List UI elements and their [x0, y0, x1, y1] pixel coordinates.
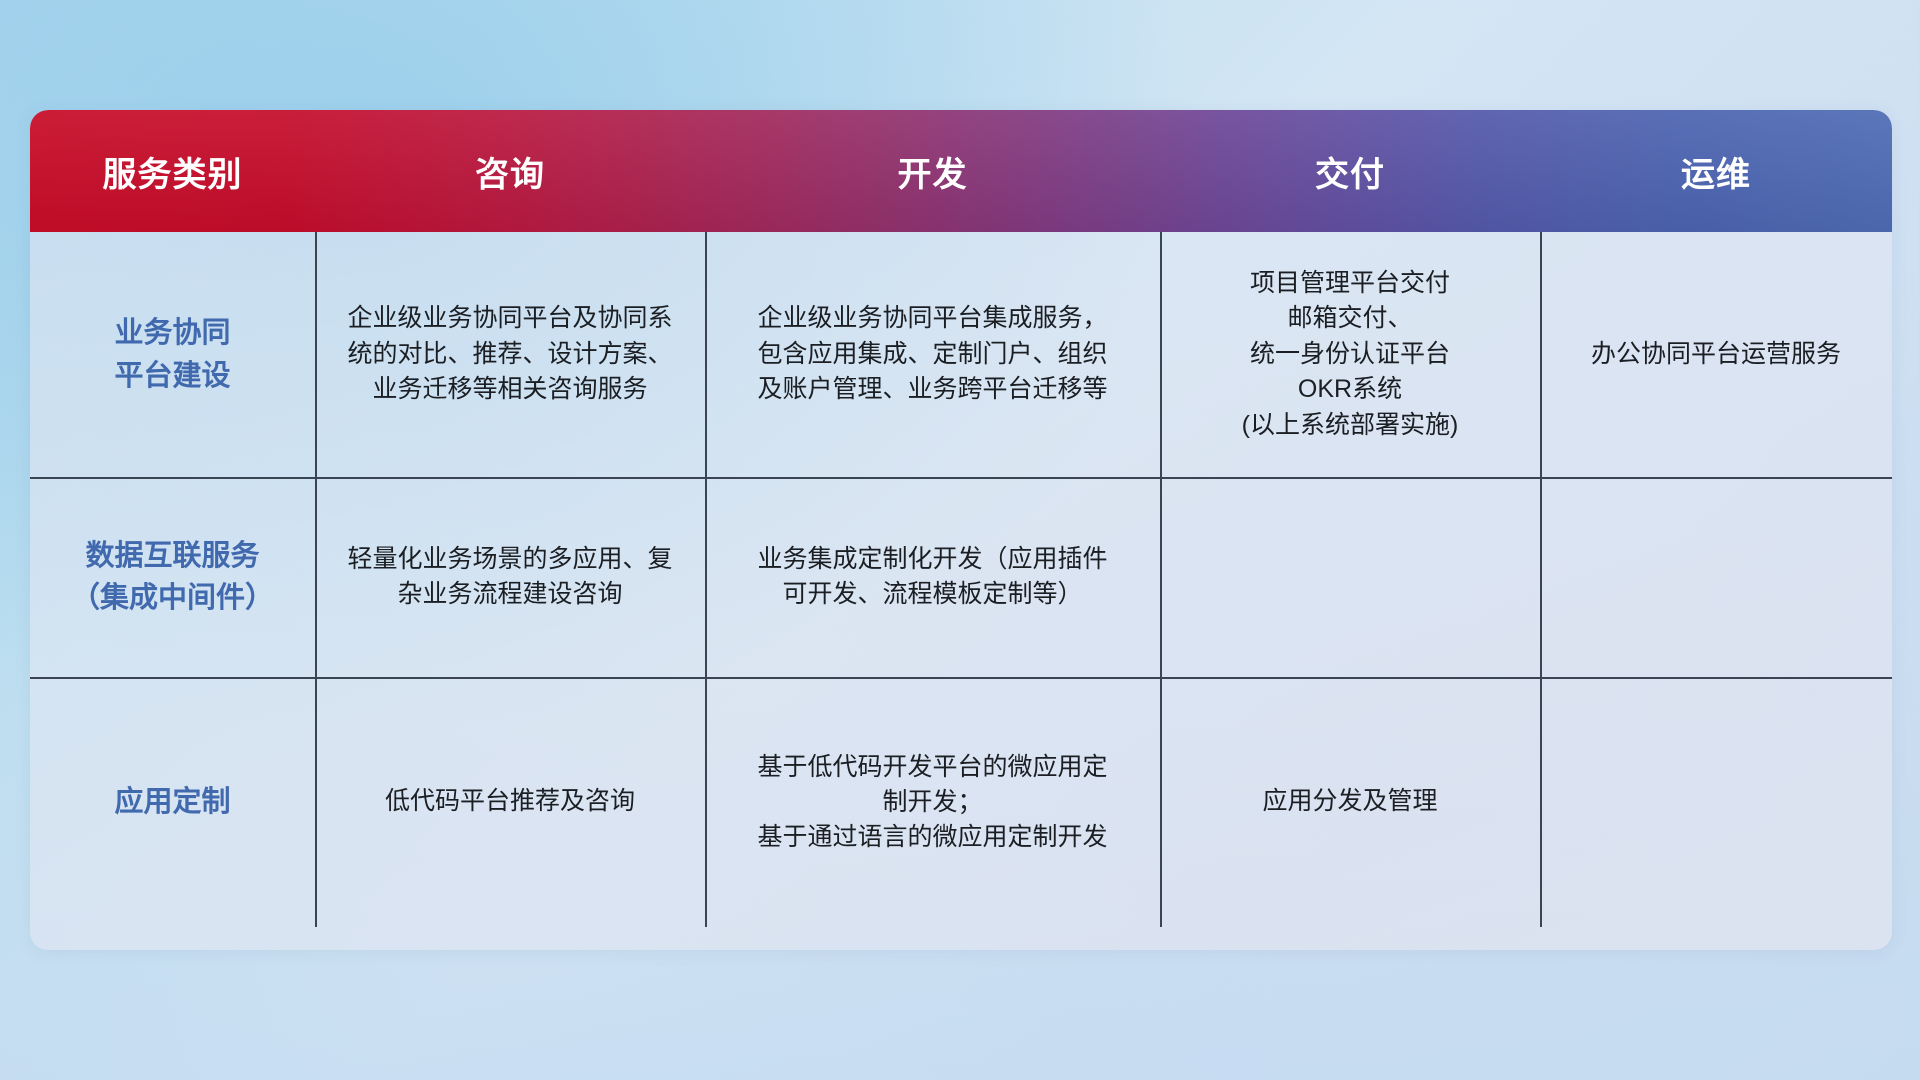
cell-delivery: [1160, 477, 1540, 677]
cell-text: 低代码平台推荐及咨询: [385, 784, 635, 820]
column-header-development: 开发: [705, 147, 1160, 196]
cell-text: 企业级业务协同平台及协同系 统的对比、推荐、设计方案、 业务迁移等相关咨询服务: [347, 301, 672, 408]
cell-operations: 办公协同平台运营服务: [1540, 232, 1892, 477]
cell-category: 业务协同 平台建设: [30, 232, 315, 477]
category-label: 数据互联服务 （集成中间件）: [71, 535, 274, 619]
column-header-consulting: 咨询: [315, 147, 705, 196]
cell-text: 业务集成定制化开发（应用插件 可开发、流程模板定制等）: [757, 542, 1107, 613]
column-header-category: 服务类别: [30, 147, 315, 196]
cell-delivery: 应用分发及管理: [1160, 677, 1540, 927]
cell-text: 项目管理平台交付 邮箱交付、 统一身份认证平台 OKR系统 (以上系统部署实施): [1242, 266, 1459, 444]
cell-consulting: 低代码平台推荐及咨询: [315, 677, 705, 927]
column-header-operations: 运维: [1540, 147, 1892, 196]
table-body: 业务协同 平台建设 企业级业务协同平台及协同系 统的对比、推荐、设计方案、 业务…: [30, 232, 1892, 927]
table-row: 数据互联服务 （集成中间件） 轻量化业务场景的多应用、复 杂业务流程建设咨询 业…: [30, 477, 1892, 677]
cell-text: 轻量化业务场景的多应用、复 杂业务流程建设咨询: [347, 542, 672, 613]
cell-consulting: 轻量化业务场景的多应用、复 杂业务流程建设咨询: [315, 477, 705, 677]
cell-category: 数据互联服务 （集成中间件）: [30, 477, 315, 677]
cell-delivery: 项目管理平台交付 邮箱交付、 统一身份认证平台 OKR系统 (以上系统部署实施): [1160, 232, 1540, 477]
category-label: 业务协同 平台建设: [114, 312, 230, 396]
cell-operations: [1540, 477, 1892, 677]
page-root: 服务类别 咨询 开发 交付 运维 业务协同 平台建设 企业级业务协同平台及协同系…: [0, 0, 1920, 1080]
category-label: 应用定制: [114, 781, 230, 823]
cell-category: 应用定制: [30, 677, 315, 927]
cell-development: 基于低代码开发平台的微应用定 制开发； 基于通过语言的微应用定制开发: [705, 677, 1160, 927]
cell-text: 应用分发及管理: [1262, 784, 1437, 820]
table-row: 应用定制 低代码平台推荐及咨询 基于低代码开发平台的微应用定 制开发； 基于通过…: [30, 677, 1892, 927]
cell-development: 业务集成定制化开发（应用插件 可开发、流程模板定制等）: [705, 477, 1160, 677]
cell-consulting: 企业级业务协同平台及协同系 统的对比、推荐、设计方案、 业务迁移等相关咨询服务: [315, 232, 705, 477]
cell-text: 办公协同平台运营服务: [1591, 337, 1841, 373]
table-row: 业务协同 平台建设 企业级业务协同平台及协同系 统的对比、推荐、设计方案、 业务…: [30, 232, 1892, 477]
cell-text: 基于低代码开发平台的微应用定 制开发； 基于通过语言的微应用定制开发: [757, 750, 1107, 855]
column-header-delivery: 交付: [1160, 147, 1540, 196]
service-matrix-table: 服务类别 咨询 开发 交付 运维 业务协同 平台建设 企业级业务协同平台及协同系…: [30, 110, 1892, 950]
cell-text: 企业级业务协同平台集成服务， 包含应用集成、定制门户、组织 及账户管理、业务跨平…: [757, 301, 1107, 408]
table-header-row: 服务类别 咨询 开发 交付 运维: [30, 110, 1892, 232]
cell-development: 企业级业务协同平台集成服务， 包含应用集成、定制门户、组织 及账户管理、业务跨平…: [705, 232, 1160, 477]
cell-operations: [1540, 677, 1892, 927]
